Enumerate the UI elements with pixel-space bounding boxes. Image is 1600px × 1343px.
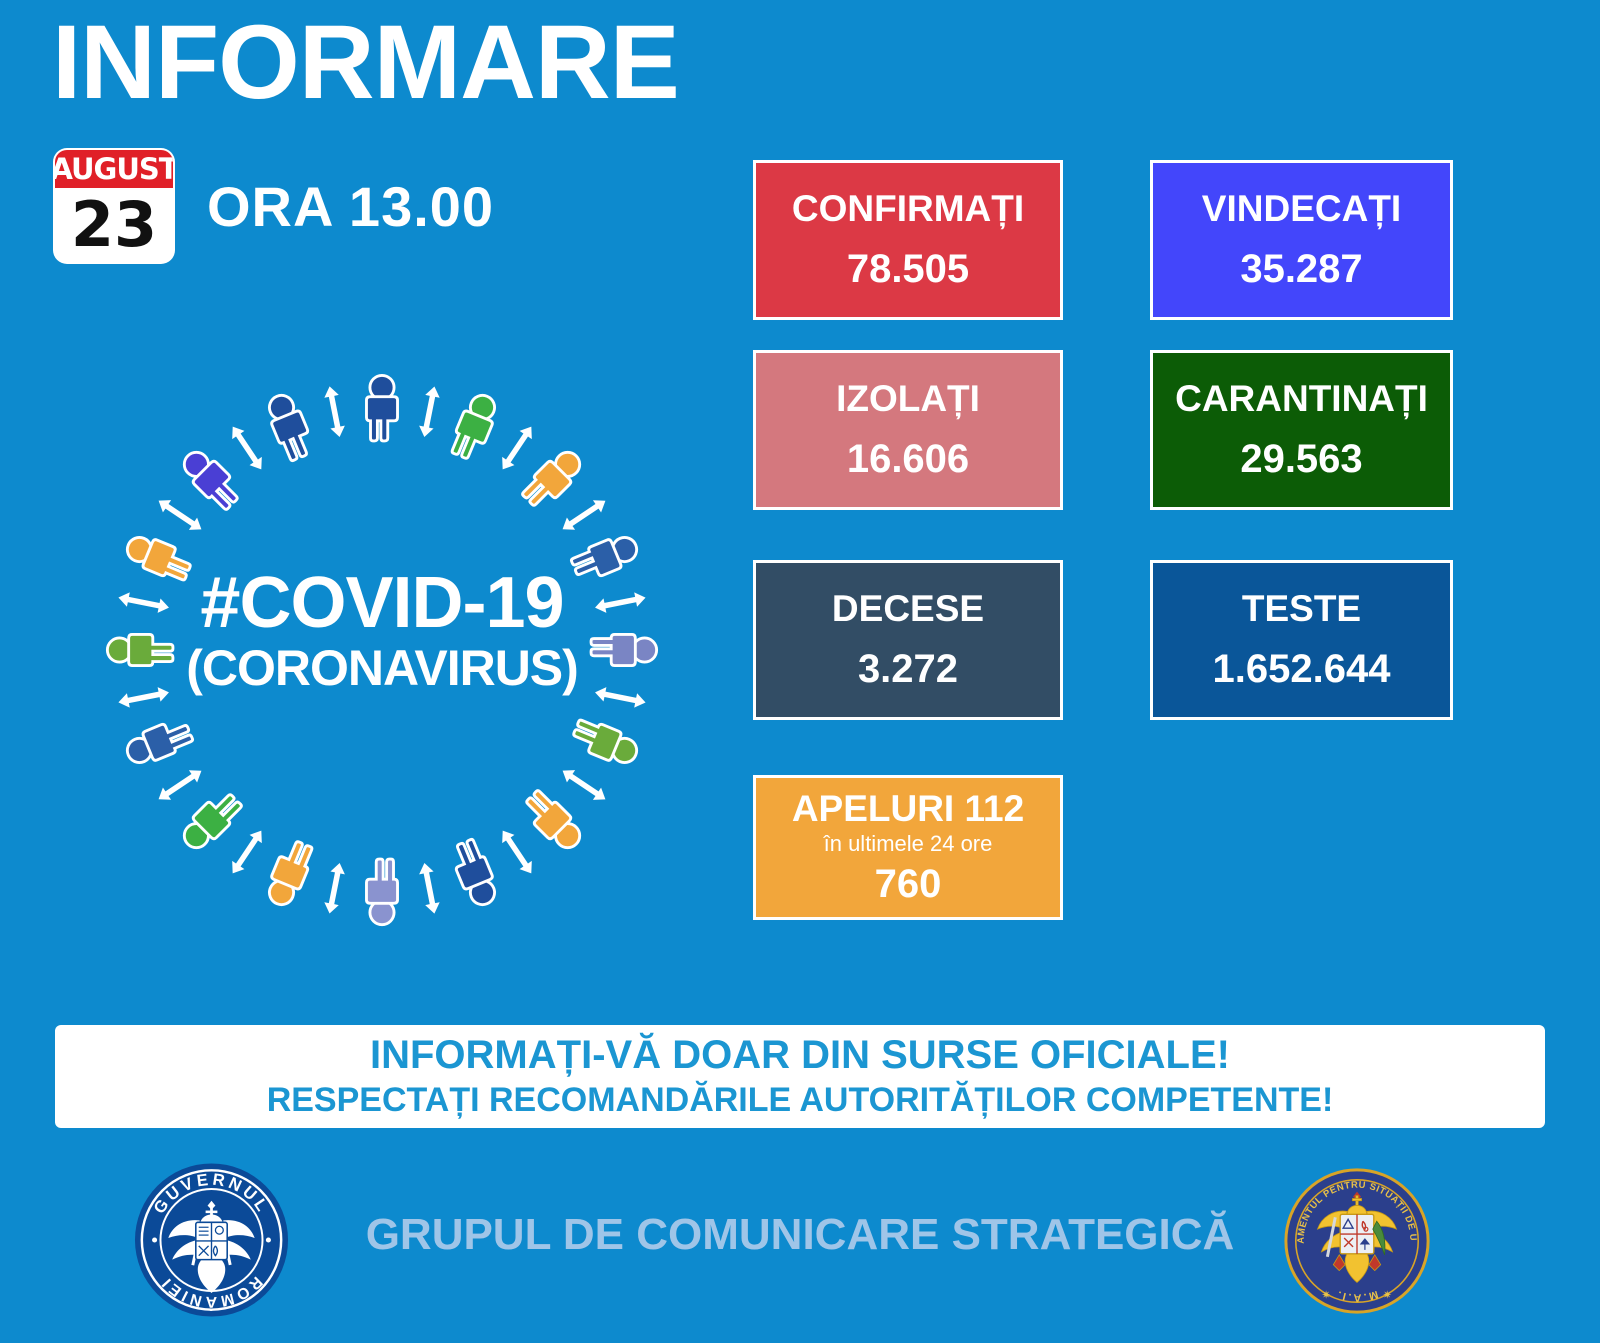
advisory-line-1: INFORMAȚI-VĂ DOAR DIN SURSE OFICIALE! [370, 1032, 1230, 1078]
advisory-banner: INFORMAȚI-VĂ DOAR DIN SURSE OFICIALE! RE… [55, 1025, 1545, 1128]
stat-value: 29.563 [1240, 437, 1362, 481]
stat-card-teste: TESTE 1.652.644 [1150, 560, 1453, 720]
hour-label: ORA 13.00 [207, 174, 494, 239]
dsu-mai-emblem-icon: DEPARTAMENTUL PENTRU SITUAȚII DE URGENȚĂ… [1278, 1152, 1436, 1330]
stat-value: 78.505 [847, 247, 969, 291]
guvernul-romaniei-seal-icon: GUVERNUL ROMÂNIEI [133, 1160, 290, 1320]
stat-label: CARANTINAȚI [1175, 379, 1428, 420]
stat-value: 1.652.644 [1213, 647, 1391, 691]
page-title: INFORMARE [52, 8, 679, 118]
stat-value: 16.606 [847, 437, 969, 481]
stat-value: 3.272 [858, 647, 958, 691]
people-circle-icon: #COVID-19 (CORONAVIRUS) [62, 335, 702, 965]
stat-label: DECESE [832, 589, 984, 630]
stat-label: VINDECAȚI [1202, 189, 1401, 230]
calls-label: APELURI 112 [792, 789, 1024, 830]
advisory-line-2: RESPECTAȚI RECOMANDĂRILE AUTORITĂȚILOR C… [267, 1080, 1334, 1121]
people-circle-svg [62, 335, 702, 965]
stat-card-decese: DECESE 3.272 [753, 560, 1063, 720]
calls-sublabel: în ultimele 24 ore [824, 832, 993, 856]
stat-card-carantinati: CARANTINAȚI 29.563 [1150, 350, 1453, 510]
stat-value: 35.287 [1240, 247, 1362, 291]
calendar-icon: AUGUST 23 [55, 150, 173, 262]
stat-card-confirmati: CONFIRMAȚI 78.505 [753, 160, 1063, 320]
svg-text:✷: ✷ [1321, 1289, 1330, 1301]
stat-card-izolati: IZOLAȚI 16.606 [753, 350, 1063, 510]
stat-card-vindecati: VINDECAȚI 35.287 [1150, 160, 1453, 320]
stat-card-apeluri-112: APELURI 112 în ultimele 24 ore 760 [753, 775, 1063, 920]
calendar-month: AUGUST [55, 150, 173, 188]
date-row: AUGUST 23 ORA 13.00 [55, 150, 494, 262]
stat-label: IZOLAȚI [836, 379, 980, 420]
stat-label: CONFIRMAȚI [792, 189, 1024, 230]
svg-text:✷: ✷ [1383, 1289, 1392, 1301]
stat-label: TESTE [1242, 589, 1361, 630]
calendar-day: 23 [55, 188, 173, 262]
calls-value: 760 [875, 862, 942, 906]
infographic-canvas: INFORMARE AUGUST 23 ORA 13.00 #COVID-19 [0, 0, 1600, 1343]
